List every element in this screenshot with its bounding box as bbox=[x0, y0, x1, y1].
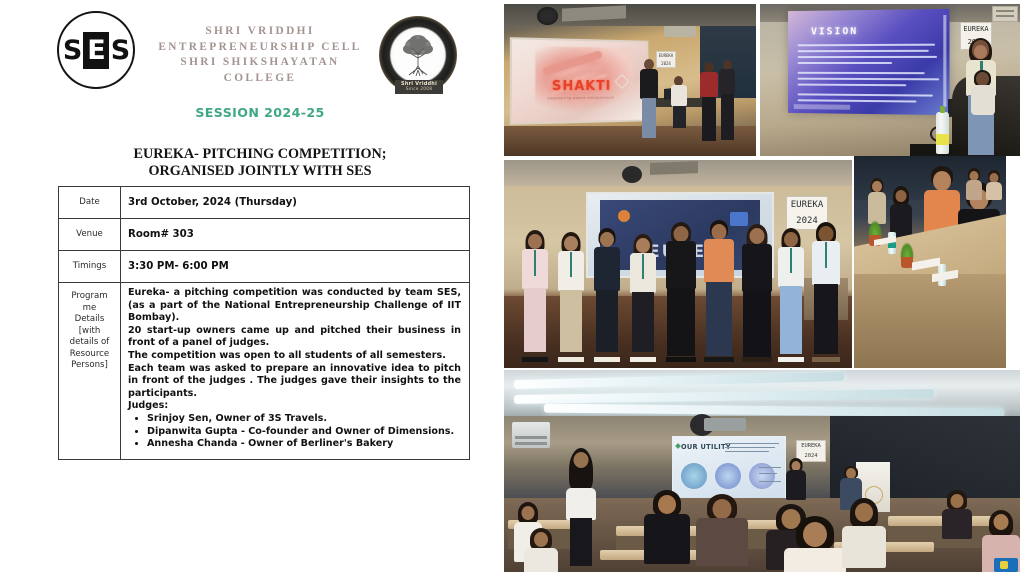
ses-logo: S E S bbox=[57, 11, 135, 89]
org-title-line-2: ENTREPRENEURSHIP CELL bbox=[146, 40, 374, 56]
audience-person-figure bbox=[986, 170, 1002, 200]
seated-person-figure bbox=[670, 76, 688, 128]
slide-scrollbar bbox=[943, 15, 946, 107]
slide-text-block bbox=[725, 443, 781, 457]
judges-list: Srinjoy Sen, Owner of 3S Travels. Dipanw… bbox=[128, 413, 461, 451]
report-title-line-2: ORGANISED JOINTLY WITH SES bbox=[55, 163, 465, 180]
wall-vent bbox=[992, 6, 1018, 22]
details-label-line-5: details of bbox=[62, 337, 117, 349]
standing-person-dark-figure bbox=[718, 60, 736, 142]
table-row-venue: Venue Room# 303 bbox=[59, 219, 470, 251]
org-title-line-4: COLLEGE bbox=[146, 71, 374, 87]
water-bottle bbox=[936, 112, 949, 154]
details-label-line-3: Details bbox=[62, 314, 117, 326]
emblem-caption-since: Since 2008 bbox=[395, 87, 443, 93]
org-title-line-3: SHRI SHIKSHAYATAN bbox=[146, 55, 374, 71]
group-person-figure bbox=[704, 222, 734, 358]
group-person-figure bbox=[594, 230, 620, 358]
poster-line-1: EUREKA bbox=[787, 197, 827, 213]
table-row-programme-details: Program me Details [with details of Reso… bbox=[59, 283, 470, 460]
table-row-date: Date 3rd October, 2024 (Thursday) bbox=[59, 187, 470, 219]
audience-person-figure bbox=[696, 494, 748, 566]
row-label-venue: Venue bbox=[59, 219, 121, 251]
slide-taskbar bbox=[794, 104, 850, 110]
photo-shakti-pitch: SHAKTI empowering women entrepreneurs EU… bbox=[504, 4, 756, 156]
slide-title-text: OUR UTILITY bbox=[681, 443, 731, 451]
presenter-figure bbox=[638, 59, 660, 141]
details-label-line-2: me bbox=[62, 303, 117, 315]
audience-person-figure bbox=[966, 168, 982, 200]
group-person-figure bbox=[666, 224, 696, 358]
row-label-programme-details: Program me Details [with details of Reso… bbox=[59, 283, 121, 460]
photo-vision-slide: VISION EUREKA 2024 bbox=[760, 4, 1020, 156]
row-value-venue: Room# 303 bbox=[121, 219, 470, 251]
ses-logo-letters: S E S bbox=[62, 32, 130, 69]
watermark-badge bbox=[994, 558, 1018, 572]
tree-icon bbox=[397, 32, 439, 78]
emblem-inner-circle bbox=[392, 29, 444, 81]
judge-item: Dipanwita Gupta - Co-founder and Owner o… bbox=[147, 426, 461, 439]
projection-screen: SHAKTI empowering women entrepreneurs bbox=[510, 37, 649, 125]
seated-person-figure bbox=[970, 72, 996, 116]
judges-desk-front bbox=[854, 274, 1006, 368]
event-details-table: Date 3rd October, 2024 (Thursday) Venue … bbox=[58, 186, 470, 460]
group-person-figure bbox=[630, 236, 656, 358]
ceiling-projector bbox=[704, 418, 746, 431]
details-paragraph-4: Each team was asked to prepare an innova… bbox=[128, 363, 461, 401]
details-label-line-1: Program bbox=[62, 291, 117, 303]
air-conditioner bbox=[512, 422, 550, 448]
audience-person-figure bbox=[890, 186, 912, 238]
group-person-figure bbox=[742, 226, 772, 358]
details-label-line-4: [with bbox=[62, 326, 117, 338]
audience-person-figure bbox=[644, 490, 690, 564]
slide-chart-circle bbox=[715, 463, 741, 489]
slide-subtitle-text: empowering women entrepreneurs bbox=[548, 96, 615, 101]
photo-collage: SHAKTI empowering women entrepreneurs EU… bbox=[504, 4, 1020, 572]
group-person-figure bbox=[558, 234, 584, 358]
audience-person-figure bbox=[842, 498, 886, 566]
projection-screen: VISION bbox=[788, 9, 949, 115]
photo-group-participants: EUREKA EUREKA 2024 bbox=[504, 160, 852, 368]
details-paragraph-1: Eureka- a pitching competition was condu… bbox=[128, 287, 461, 325]
org-title-line-1: SHRI VRIDDHI bbox=[146, 24, 374, 40]
ses-letter-e: E bbox=[83, 32, 108, 69]
slide-chart-circle bbox=[681, 463, 707, 489]
poster-line-1: EUREKA bbox=[797, 441, 825, 451]
projector bbox=[664, 26, 696, 37]
group-person-figure bbox=[812, 224, 840, 358]
photo-judges-panel bbox=[854, 156, 1006, 368]
group-person-figure bbox=[778, 230, 804, 358]
ses-letter-s-right: S bbox=[110, 37, 130, 64]
audience-person-figure bbox=[942, 490, 972, 538]
details-paragraph-2: 20 start-up owners came up and pitched t… bbox=[128, 325, 461, 350]
poster-line-1: EUREKA bbox=[961, 23, 991, 36]
slide-bullet-mark bbox=[675, 443, 681, 449]
wall-clock bbox=[537, 7, 558, 25]
table-row-timings: Timings 3:30 PM- 6:00 PM bbox=[59, 251, 470, 283]
row-label-timings: Timings bbox=[59, 251, 121, 283]
emblem-caption: Shri Vriddhi Since 2008 bbox=[395, 80, 443, 94]
slide-title-text: SHAKTI bbox=[552, 79, 611, 94]
organization-title: SHRI VRIDDHI ENTREPRENEURSHIP CELL SHRI … bbox=[146, 24, 374, 86]
session-label: SESSION 2024-25 bbox=[146, 105, 374, 120]
details-label-line-7: Persons] bbox=[62, 360, 117, 372]
row-value-date: 3rd October, 2024 (Thursday) bbox=[121, 187, 470, 219]
row-value-programme-details: Eureka- a pitching competition was condu… bbox=[121, 283, 470, 460]
details-paragraph-3: The competition was open to all students… bbox=[128, 350, 461, 363]
presenter-figure bbox=[786, 458, 806, 500]
details-label-line-6: Resource bbox=[62, 349, 117, 361]
shri-vriddhi-emblem: Shri Vriddhi Since 2008 bbox=[375, 14, 461, 106]
slide-logo bbox=[618, 210, 630, 222]
audience-person-figure bbox=[868, 178, 886, 224]
row-label-date: Date bbox=[59, 187, 121, 219]
judges-heading: Judges: bbox=[128, 400, 461, 413]
audience-person-figure bbox=[784, 516, 846, 572]
ceiling-projector-mount bbox=[650, 161, 698, 175]
ses-letter-s-left: S bbox=[62, 37, 82, 64]
standing-person-figure bbox=[566, 448, 596, 566]
audience-person-figure bbox=[524, 528, 558, 572]
standing-person-red-figure bbox=[698, 62, 720, 142]
report-title-line-1: EUREKA- PITCHING COMPETITION; bbox=[55, 146, 465, 163]
report-title: EUREKA- PITCHING COMPETITION; ORGANISED … bbox=[55, 146, 465, 180]
row-value-timings: 3:30 PM- 6:00 PM bbox=[121, 251, 470, 283]
judge-item: Srinjoy Sen, Owner of 3S Travels. bbox=[147, 413, 461, 426]
report-page: S E S SHRI VRIDDHI ENTREPRENEURSHIP CELL… bbox=[0, 0, 1024, 576]
photo-classroom-audience: OUR UTILITY EUREKA 2024 bbox=[504, 370, 1020, 572]
document-panel: S E S SHRI VRIDDHI ENTREPRENEURSHIP CELL… bbox=[0, 0, 500, 576]
judge-item: Annesha Chanda - Owner of Berliner's Bak… bbox=[147, 438, 461, 451]
group-person-figure bbox=[522, 232, 548, 358]
wall-clock bbox=[622, 166, 642, 183]
slide-title-text: VISION bbox=[811, 26, 858, 37]
